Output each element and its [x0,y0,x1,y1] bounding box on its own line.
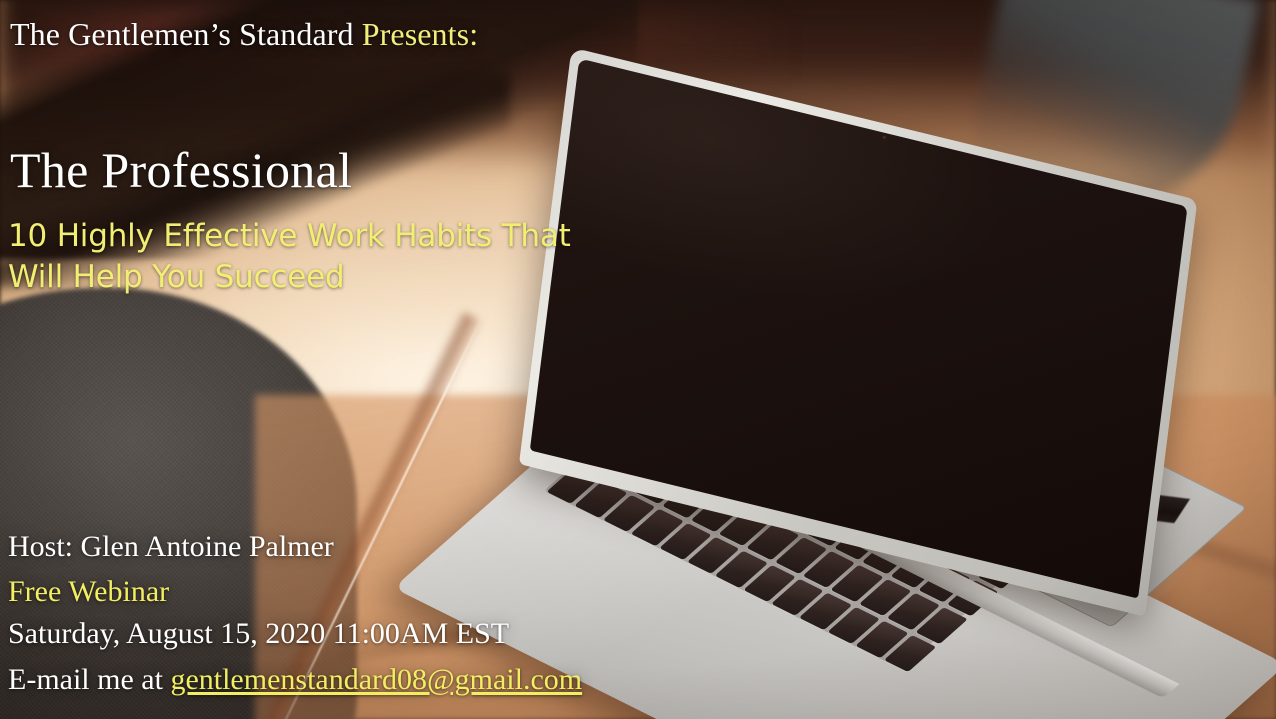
host-line: Host: Glen Antoine Palmer [8,531,334,563]
slide-subtitle: 10 Highly Effective Work Habits That Wil… [8,216,628,298]
presents-word: Presents: [362,16,478,52]
slide-title: The Professional [10,144,352,197]
text-overlay: The Gentlemen’s Standard Presents: The P… [0,0,1276,719]
free-webinar-label: Free Webinar [8,576,169,608]
date-time-line: Saturday, August 15, 2020 11:00AM EST [8,618,509,650]
brand-name: The Gentlemen’s Standard [10,16,362,52]
email-address-link[interactable]: gentlemenstandard08@gmail.com [170,663,582,696]
presenter-line: The Gentlemen’s Standard Presents: [10,18,478,52]
email-prefix-label: E-mail me at [8,663,170,696]
email-line: E-mail me at gentlemenstandard08@gmail.c… [8,664,582,696]
webinar-promo-slide: The Gentlemen’s Standard Presents: The P… [0,0,1276,719]
